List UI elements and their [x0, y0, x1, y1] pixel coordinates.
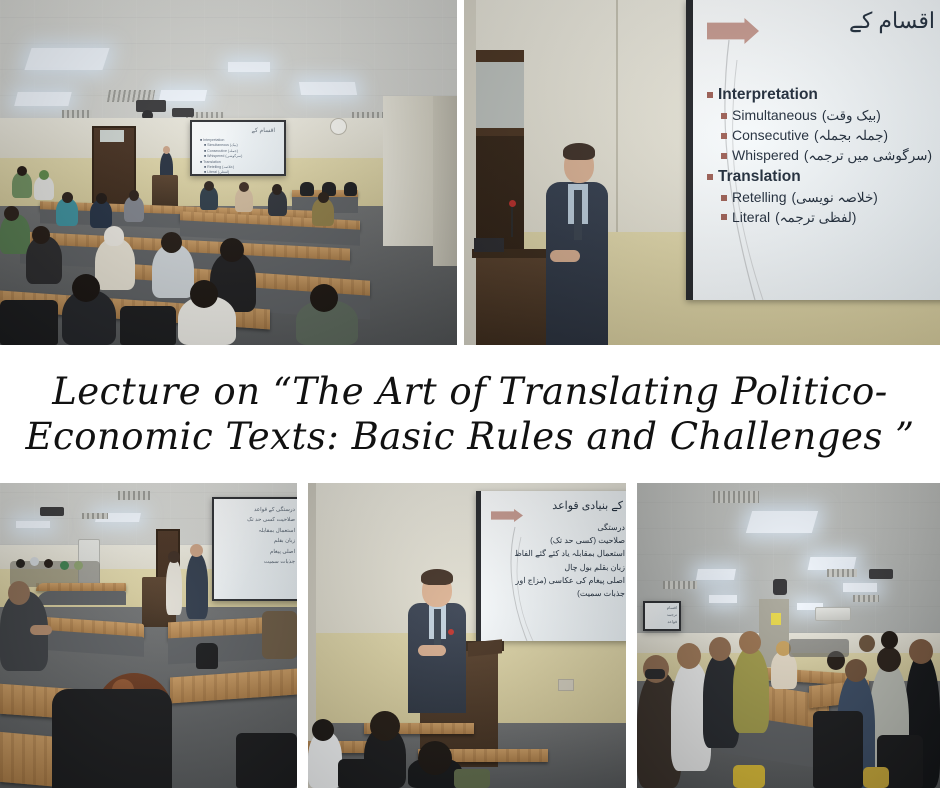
- photo-top-left: اقسام کے ■ Interpretation ■ Simultaneous…: [0, 0, 457, 345]
- caption-band: Lecture on “The Art of Translating Polit…: [0, 345, 940, 483]
- photo-bottom-left: درستگی کے قواعد صلاحیت کسی حد تک استعمال…: [0, 483, 297, 788]
- caption-line-1: Lecture on “The Art of Translating Polit…: [52, 369, 888, 414]
- photo-top-right: اقسام کے Interpretation Simultaneous (بی…: [464, 0, 940, 345]
- photo-bottom-right: اقسامترجمہقواعد: [637, 483, 940, 788]
- photo-bottom-middle: کے بنیادی قواعد درستگی صلاحیت (کسی حد تک…: [308, 483, 626, 788]
- caption-line-2: Economic Texts: Basic Rules and Challeng…: [25, 414, 914, 459]
- photo-collage: اقسام کے ■ Interpretation ■ Simultaneous…: [0, 0, 940, 788]
